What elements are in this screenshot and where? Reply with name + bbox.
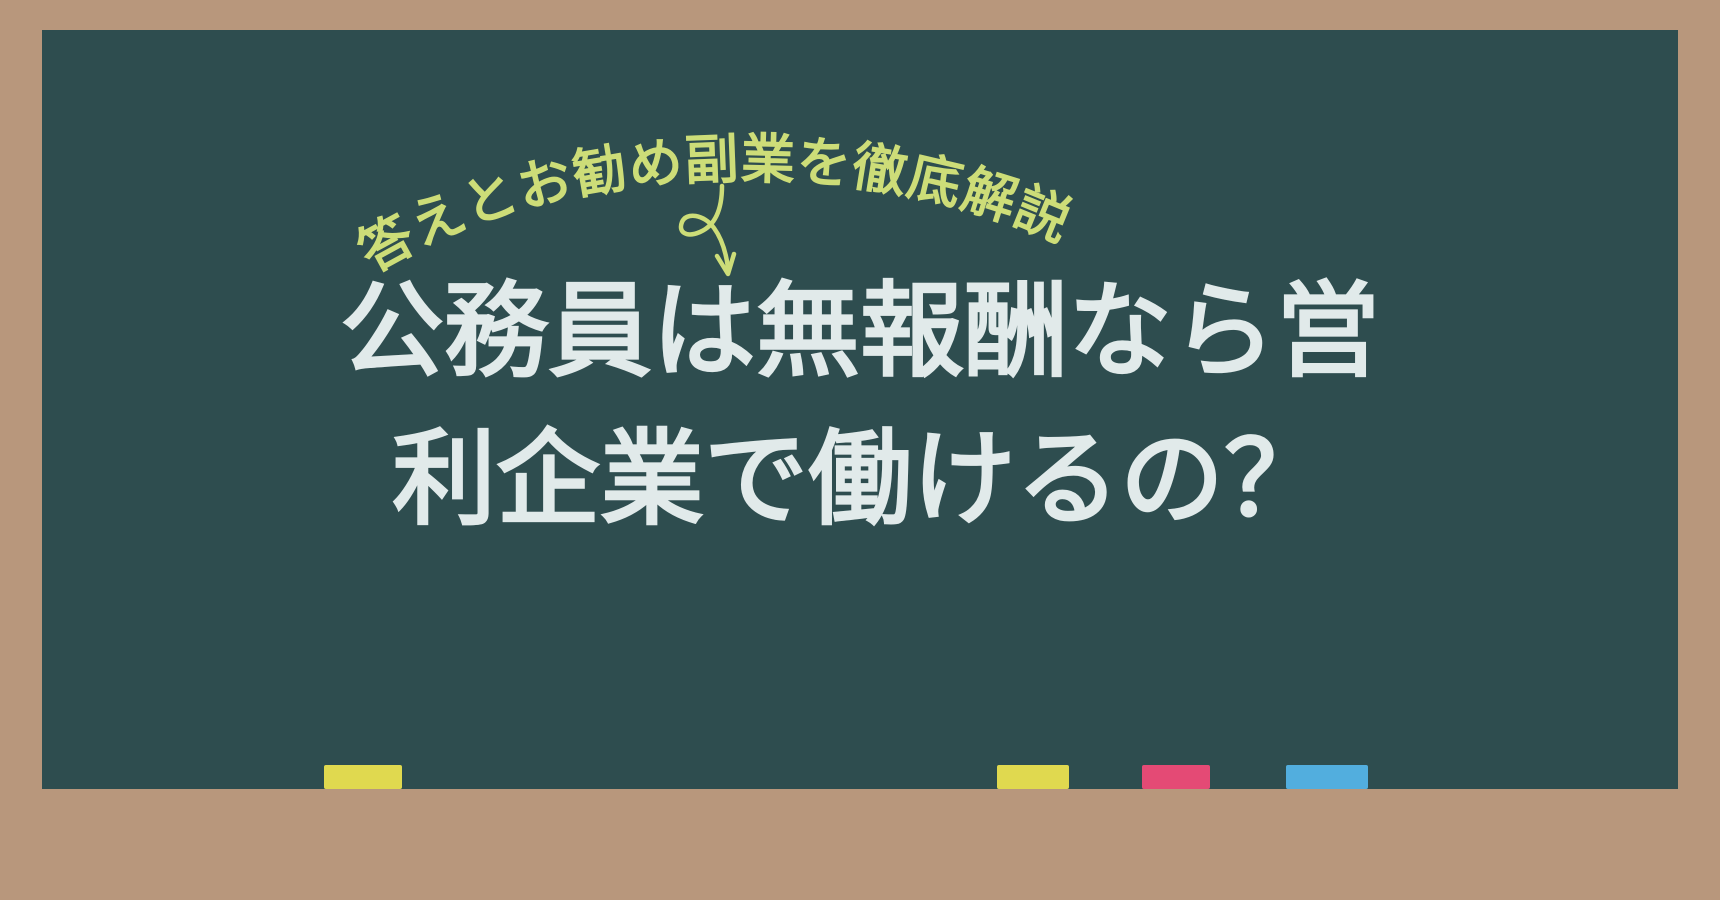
blue-chalk <box>1286 765 1368 789</box>
pink-chalk <box>1142 765 1210 789</box>
yellow-chalk-1 <box>324 765 402 789</box>
blackboard-poster: 答えとお勧め副業を徹底解説 公務員は無報酬なら営 利企業で働けるの？ <box>0 0 1720 900</box>
page-title: 公務員は無報酬なら営 利企業で働けるの？ <box>42 258 1678 553</box>
yellow-chalk-2 <box>997 765 1069 789</box>
chalkboard: 答えとお勧め副業を徹底解説 公務員は無報酬なら営 利企業で働けるの？ <box>42 30 1678 789</box>
page-title-line-2: 利企業で働けるの？ <box>42 406 1678 554</box>
page-title-line-1: 公務員は無報酬なら営 <box>42 258 1678 406</box>
